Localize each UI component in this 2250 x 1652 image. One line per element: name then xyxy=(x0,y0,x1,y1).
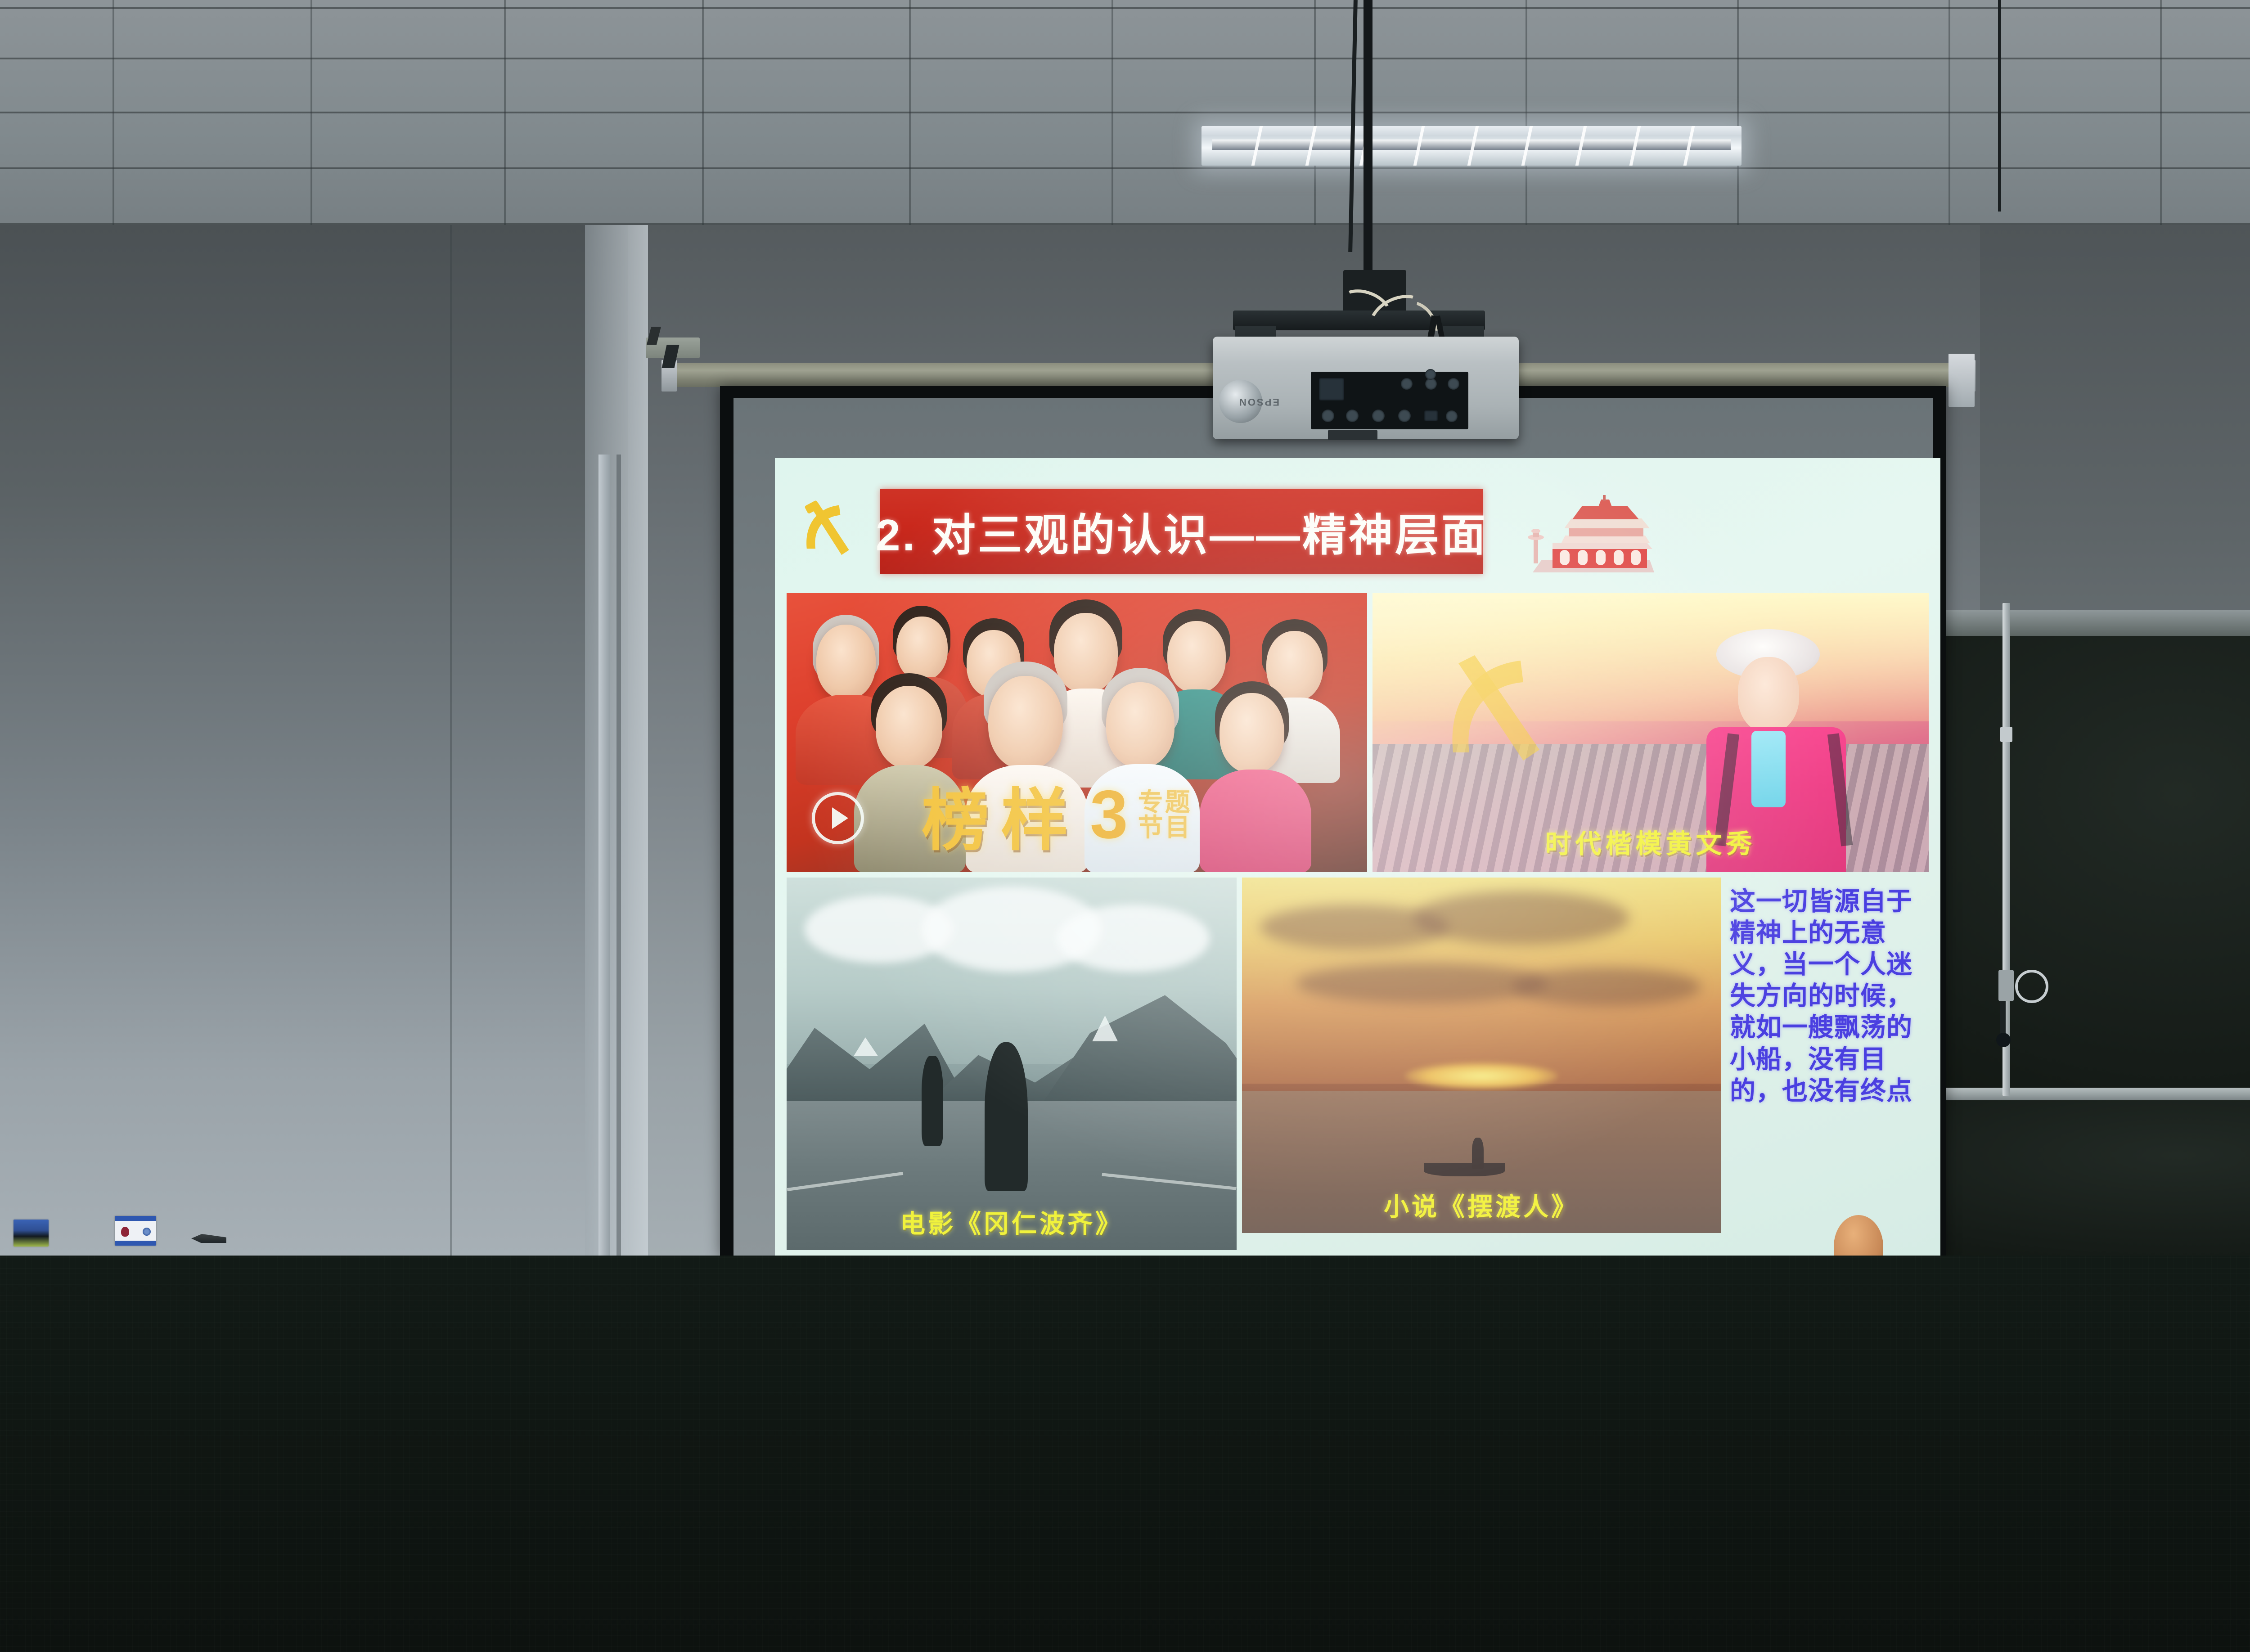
door-frame-shadow xyxy=(616,455,621,1258)
slide-title-bar: 2. 对三观的认识——精神层面 xyxy=(880,489,1483,574)
hammer-and-sickle-icon xyxy=(795,498,859,566)
classroom-scene: 2. 对三观的认识——精神层面 xyxy=(0,0,2250,1258)
wall-left xyxy=(0,225,628,1258)
rod-joint xyxy=(2000,727,2012,742)
photo-caption-huang: 时代楷模黄文秀 xyxy=(1372,823,1929,860)
slide-title: 2. 对三观的认识——精神层面 xyxy=(876,500,1488,563)
wall-poster-landscape xyxy=(13,1220,49,1247)
slide-body-text-block: 这一切皆源自于精神上的无意义，当一个人迷失方向的时候，就如一艘飘荡的小船，没有目… xyxy=(1726,881,1929,1237)
play-button-icon[interactable] xyxy=(812,792,864,844)
photo-caption-baiduren: 小说《摆渡人》 xyxy=(1242,1187,1721,1223)
projected-slide: 2. 对三观的认识——精神层面 xyxy=(775,458,1940,1258)
screenshot-root: 2. 对三观的认识——精神层面 xyxy=(0,0,2250,1652)
door-frame xyxy=(598,455,610,1258)
slide-media-grid: 榜样 3 专题 节目 xyxy=(786,593,1929,1250)
photo-huang-wenxiu: 时代楷模黄文秀 xyxy=(1372,593,1929,872)
lower-dark-region xyxy=(0,1256,2250,1652)
projector-brand-label: EPSON xyxy=(1238,396,1279,408)
boatman-silhouette xyxy=(1472,1138,1484,1169)
rod-knob xyxy=(1996,1033,2011,1047)
suspended-ceiling xyxy=(0,0,2250,239)
tiananmen-gate-icon xyxy=(1515,492,1659,582)
program-title-block: 榜样 3 专题 节目 xyxy=(922,773,1246,856)
party-emblem-watermark-icon xyxy=(1422,647,1570,782)
ceiling-light-fixture xyxy=(1201,126,1741,166)
rod-head xyxy=(1998,970,2014,1001)
ceiling-cable-thin xyxy=(1998,0,2001,212)
projector-vent xyxy=(1328,430,1377,440)
wall-poster-notice xyxy=(115,1216,156,1246)
photo-gangrenboqi: 电影《冈仁波齐》 xyxy=(787,878,1237,1250)
photo-baiduren: 小说《摆渡人》 xyxy=(1242,878,1721,1233)
program-title: 榜样 xyxy=(922,766,1080,864)
boat-silhouette xyxy=(1424,1163,1505,1176)
rod-ring-icon xyxy=(2015,970,2048,1003)
program-subtitle-line2: 节目 xyxy=(1138,815,1192,840)
ceiling-cable xyxy=(1363,0,1372,270)
projector-epson: EPSON xyxy=(1213,337,1519,439)
projector-port-panel xyxy=(1311,372,1468,429)
chalkboard xyxy=(1915,610,2250,1258)
whiteboard-brand-badge xyxy=(1948,354,1975,407)
program-subtitle-line1: 专题 xyxy=(1138,790,1192,815)
slide-body-text: 这一切皆源自于精神上的无意义，当一个人迷失方向的时候，就如一艘飘荡的小船，没有目… xyxy=(1730,886,1926,1107)
program-number: 3 xyxy=(1090,775,1128,854)
rod-tip xyxy=(2000,1001,2006,1037)
video-thumbnail[interactable]: 榜样 3 专题 节目 xyxy=(787,593,1367,872)
photo-caption-gangrenboqi: 电影《冈仁波齐》 xyxy=(787,1204,1237,1240)
